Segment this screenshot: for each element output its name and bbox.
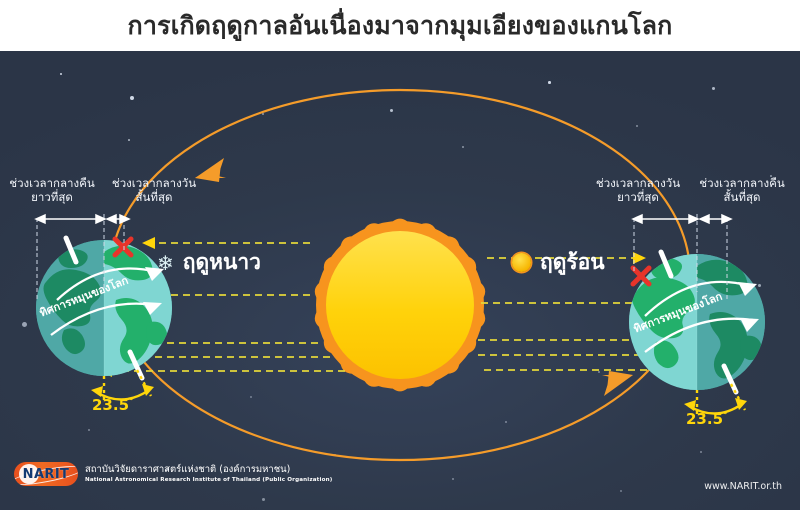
logo-text-block: สถาบันวิจัยดาราศาสตร์แห่งชาติ (องค์การมห…	[85, 464, 332, 484]
narit-logo: NARIT สถาบันวิจัยดาราศาสตร์แห่งชาติ (องค…	[14, 462, 332, 486]
sun	[315, 219, 485, 392]
left-night-label-line1: ช่วงเวลากลางคืน	[2, 176, 102, 190]
right-night-label: ช่วงเวลากลางคืน สั้นที่สุด	[692, 176, 792, 204]
sun-icon	[512, 253, 531, 272]
right-tilt-angle-value: 23.5	[686, 410, 723, 428]
left-tilt-angle-label: 23.5°	[92, 396, 134, 414]
right-night-label-line2: สั้นที่สุด	[692, 190, 792, 204]
infographic-canvas: การเกิดฤดูกาลอันเนื่องมาจากมุมเอียงของแก…	[0, 0, 800, 510]
left-tilt-angle-unit: °	[129, 397, 134, 407]
orbit-direction-arrow-right	[602, 371, 633, 396]
logo-mark: NARIT	[14, 462, 78, 486]
website-url: www.NARIT.or.th	[704, 481, 782, 492]
right-tilt-angle-label: 23.5°	[686, 410, 728, 428]
measure-arrows-left	[36, 215, 129, 223]
org-name-thai: สถาบันวิจัยดาราศาสตร์แห่งชาติ (องค์การมห…	[85, 464, 332, 475]
right-day-label-line1: ช่วงเวลากลางวัน	[588, 176, 688, 190]
sun-core	[326, 231, 474, 379]
season-winter-text: ฤดูหนาว	[183, 252, 261, 273]
right-night-label-line1: ช่วงเวลากลางคืน	[692, 176, 792, 190]
left-tilt-angle-value: 23.5	[92, 396, 129, 414]
left-day-label-line2: สั้นที่สุด	[104, 190, 204, 204]
season-label-summer: ฤดูร้อน	[512, 252, 605, 273]
diagram-vector-layer	[0, 0, 800, 510]
left-night-label-line2: ยาวที่สุด	[2, 190, 102, 204]
snowflake-icon: ❄	[157, 253, 174, 273]
season-label-winter: ❄ ฤดูหนาว	[157, 252, 261, 273]
season-summer-text: ฤดูร้อน	[540, 252, 605, 273]
right-day-label: ช่วงเวลากลางวัน ยาวที่สุด	[588, 176, 688, 204]
right-tilt-angle-unit: °	[723, 411, 728, 421]
left-day-label-line1: ช่วงเวลากลางวัน	[104, 176, 204, 190]
measure-arrows-right	[633, 215, 731, 223]
left-day-label: ช่วงเวลากลางวัน สั้นที่สุด	[104, 176, 204, 204]
logo-wordmark: NARIT	[23, 467, 70, 482]
marker-cross-right	[633, 268, 649, 284]
right-day-label-line2: ยาวที่สุด	[588, 190, 688, 204]
org-name-english: National Astronomical Research Institute…	[85, 476, 332, 484]
left-night-label: ช่วงเวลากลางคืน ยาวที่สุด	[2, 176, 102, 204]
